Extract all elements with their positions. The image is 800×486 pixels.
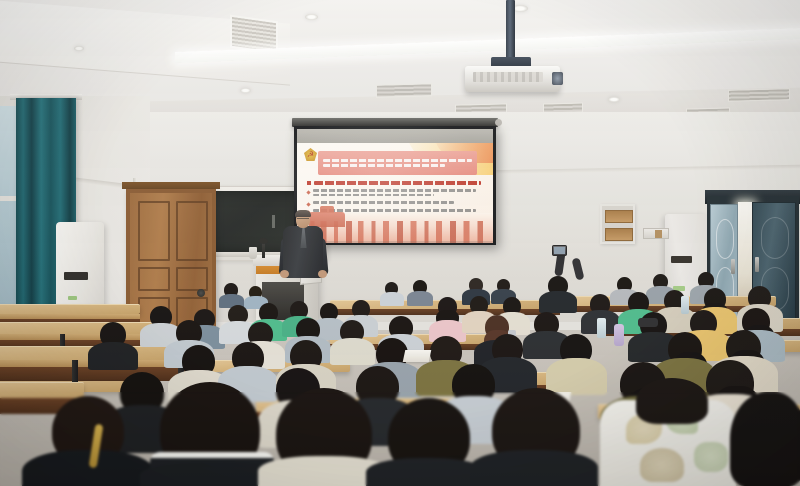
lecture-hall-photo: ☭ xyxy=(0,0,800,486)
bullet-marker-icon xyxy=(306,203,310,207)
water-bottle xyxy=(614,324,624,346)
slide-heading-text xyxy=(314,181,481,185)
bullet-text xyxy=(313,201,481,206)
desk-row xyxy=(0,304,140,314)
phone-screen xyxy=(554,247,565,254)
sunglasses-on-head-icon xyxy=(638,318,658,327)
floral-motif xyxy=(640,448,684,482)
ac-indicator-icon xyxy=(68,296,77,300)
door-knob-icon[interactable] xyxy=(197,289,205,297)
student-shoulders-foreground xyxy=(470,450,598,486)
slide-heading xyxy=(307,181,481,185)
ac-display-icon xyxy=(671,256,692,263)
student-shoulders xyxy=(88,342,138,370)
student-shoulders-foreground xyxy=(366,458,486,486)
red-city-skyline-graphic xyxy=(297,213,493,243)
student-shoulders xyxy=(330,338,375,365)
student-shoulders xyxy=(539,291,577,313)
water-cup xyxy=(249,247,257,259)
bullet-text xyxy=(313,189,481,198)
striped-shirt-student xyxy=(546,358,607,395)
tiananmen-gate-graphic xyxy=(309,212,345,227)
student-head-foreground xyxy=(636,378,708,424)
glasses-icon xyxy=(297,218,309,221)
ceiling-vent-icon xyxy=(728,88,790,102)
presentation-slide: ☭ xyxy=(297,143,493,243)
downlight-icon xyxy=(240,88,251,93)
water-bottle xyxy=(681,296,689,314)
desk-row xyxy=(0,322,163,334)
breaker-panel[interactable] xyxy=(600,204,635,244)
ceiling-vent-icon xyxy=(376,83,432,97)
bullet-marker-icon xyxy=(306,190,310,194)
downlight-icon xyxy=(74,46,84,51)
slide-heading-number xyxy=(307,181,311,185)
downlight-icon xyxy=(608,97,620,102)
ceiling-projector xyxy=(465,66,560,92)
microphone-icon xyxy=(262,242,265,258)
slide-title-band xyxy=(318,151,477,175)
lecturer-hand-left xyxy=(280,270,289,278)
student-head-foreground xyxy=(730,392,800,486)
student-shoulders-foreground xyxy=(22,450,154,486)
floral-motif xyxy=(694,442,728,472)
door-handle-icon[interactable] xyxy=(755,257,759,272)
projector-pole xyxy=(506,0,515,62)
slide-title-line xyxy=(323,164,445,167)
lecturer-hand-right xyxy=(318,270,327,278)
ac-display-icon xyxy=(64,272,88,280)
downlight-icon xyxy=(305,14,318,20)
desk-row xyxy=(0,382,84,398)
student-shoulders xyxy=(380,292,404,306)
projector-lens-icon xyxy=(552,72,563,85)
screen-crease xyxy=(297,241,493,243)
door-frame-top xyxy=(122,182,220,189)
slide-title-line xyxy=(323,159,472,162)
communist-party-emblem-icon: ☭ xyxy=(304,148,317,161)
door-handle-icon[interactable] xyxy=(731,259,735,274)
open-notebook xyxy=(403,350,432,362)
projection-screen: ☭ xyxy=(294,126,496,245)
wall-plate-icon xyxy=(643,228,669,239)
slide-bullet xyxy=(307,189,481,198)
screen-masking-band xyxy=(297,129,493,143)
student-shoulders xyxy=(407,291,433,306)
water-bottle xyxy=(597,318,606,338)
lecturer-hair xyxy=(295,210,311,217)
